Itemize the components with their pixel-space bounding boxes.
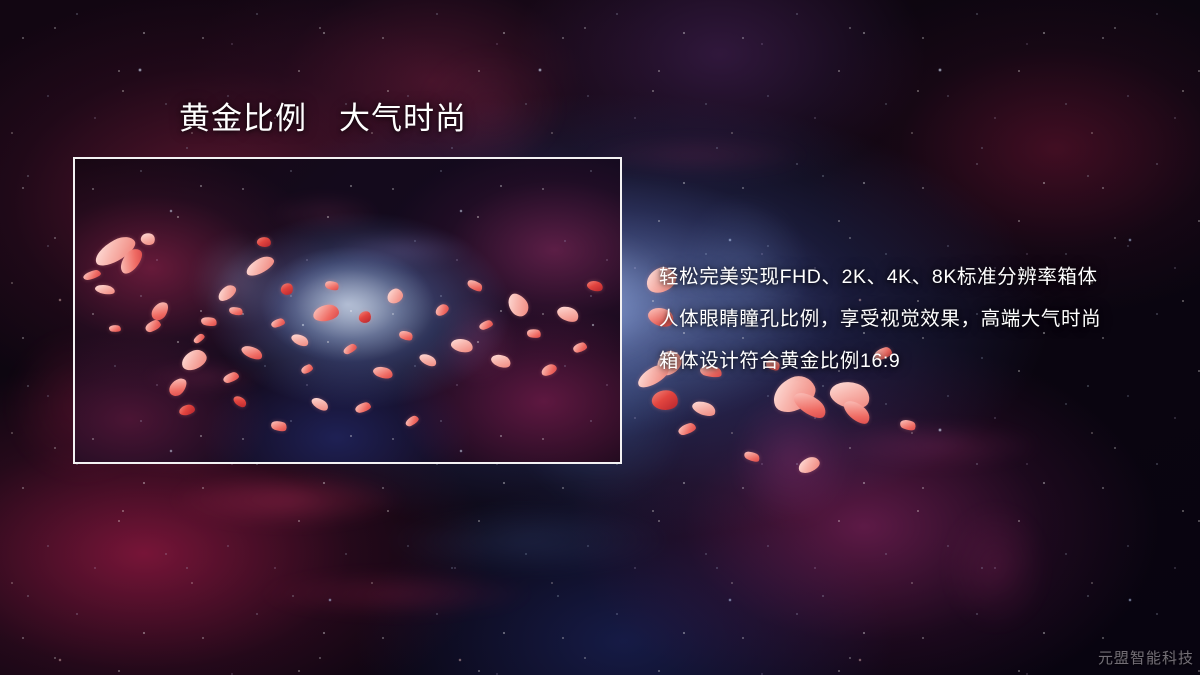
petal: [433, 302, 450, 317]
petal: [94, 283, 115, 296]
petal: [503, 290, 532, 320]
petal: [243, 253, 276, 279]
petal: [450, 336, 475, 355]
petal: [651, 388, 680, 411]
petal: [109, 324, 122, 333]
petal: [310, 395, 331, 413]
petal: [178, 404, 195, 417]
petal: [179, 347, 210, 373]
petal: [478, 319, 494, 331]
petal: [899, 417, 918, 432]
petal: [372, 364, 394, 381]
petal: [82, 269, 101, 281]
image-panel: [73, 157, 622, 464]
petal: [526, 327, 542, 339]
panel-petal-layer: [75, 159, 620, 462]
petal: [466, 277, 484, 293]
petal: [192, 332, 206, 344]
petal: [222, 371, 240, 384]
petal: [215, 282, 238, 303]
petal: [827, 376, 873, 413]
body-line-1: 轻松完美实现FHD、2K、4K、8K标准分辨率箱体: [659, 256, 1169, 298]
body-line-3: 箱体设计符合黄金比例16:9: [659, 340, 1169, 382]
petal: [270, 318, 285, 329]
petal: [139, 231, 156, 247]
petal: [280, 282, 295, 297]
petal: [586, 279, 604, 293]
petal: [572, 342, 588, 354]
petal: [312, 303, 340, 322]
petal: [358, 310, 372, 324]
body-text-block: 轻松完美实现FHD、2K、4K、8K标准分辨率箱体 人体眼睛瞳孔比例，享受视觉效…: [659, 256, 1169, 382]
petal: [540, 362, 559, 377]
petal: [790, 387, 830, 423]
petal: [398, 328, 415, 342]
petal: [555, 303, 581, 325]
watermark: 元盟智能科技: [1098, 647, 1194, 668]
petal: [354, 401, 372, 414]
petal: [166, 375, 189, 399]
petal: [743, 449, 761, 464]
petal: [677, 422, 697, 437]
petal: [418, 351, 439, 369]
petal: [200, 315, 218, 328]
petal: [228, 305, 244, 317]
petal: [149, 299, 171, 323]
petal: [300, 363, 314, 374]
slide-canvas: 黄金比例 大气时尚 轻松完美实现FHD、2K、4K、8K标准分辨率箱体 人体眼睛…: [0, 0, 1200, 675]
petal: [270, 419, 288, 434]
petal: [404, 414, 420, 427]
body-line-2: 人体眼睛瞳孔比例，享受视觉效果，高端大气时尚: [659, 298, 1169, 340]
petal: [144, 319, 162, 334]
petal: [232, 394, 249, 410]
slide-title: 黄金比例 大气时尚: [179, 101, 467, 137]
petal: [385, 287, 405, 306]
petal: [489, 352, 512, 371]
petal: [796, 455, 821, 476]
petal: [324, 279, 340, 293]
petal: [840, 396, 873, 428]
petal: [342, 342, 358, 355]
petal: [240, 343, 265, 363]
petal: [290, 331, 311, 348]
petal: [690, 398, 717, 419]
petal: [256, 236, 272, 248]
